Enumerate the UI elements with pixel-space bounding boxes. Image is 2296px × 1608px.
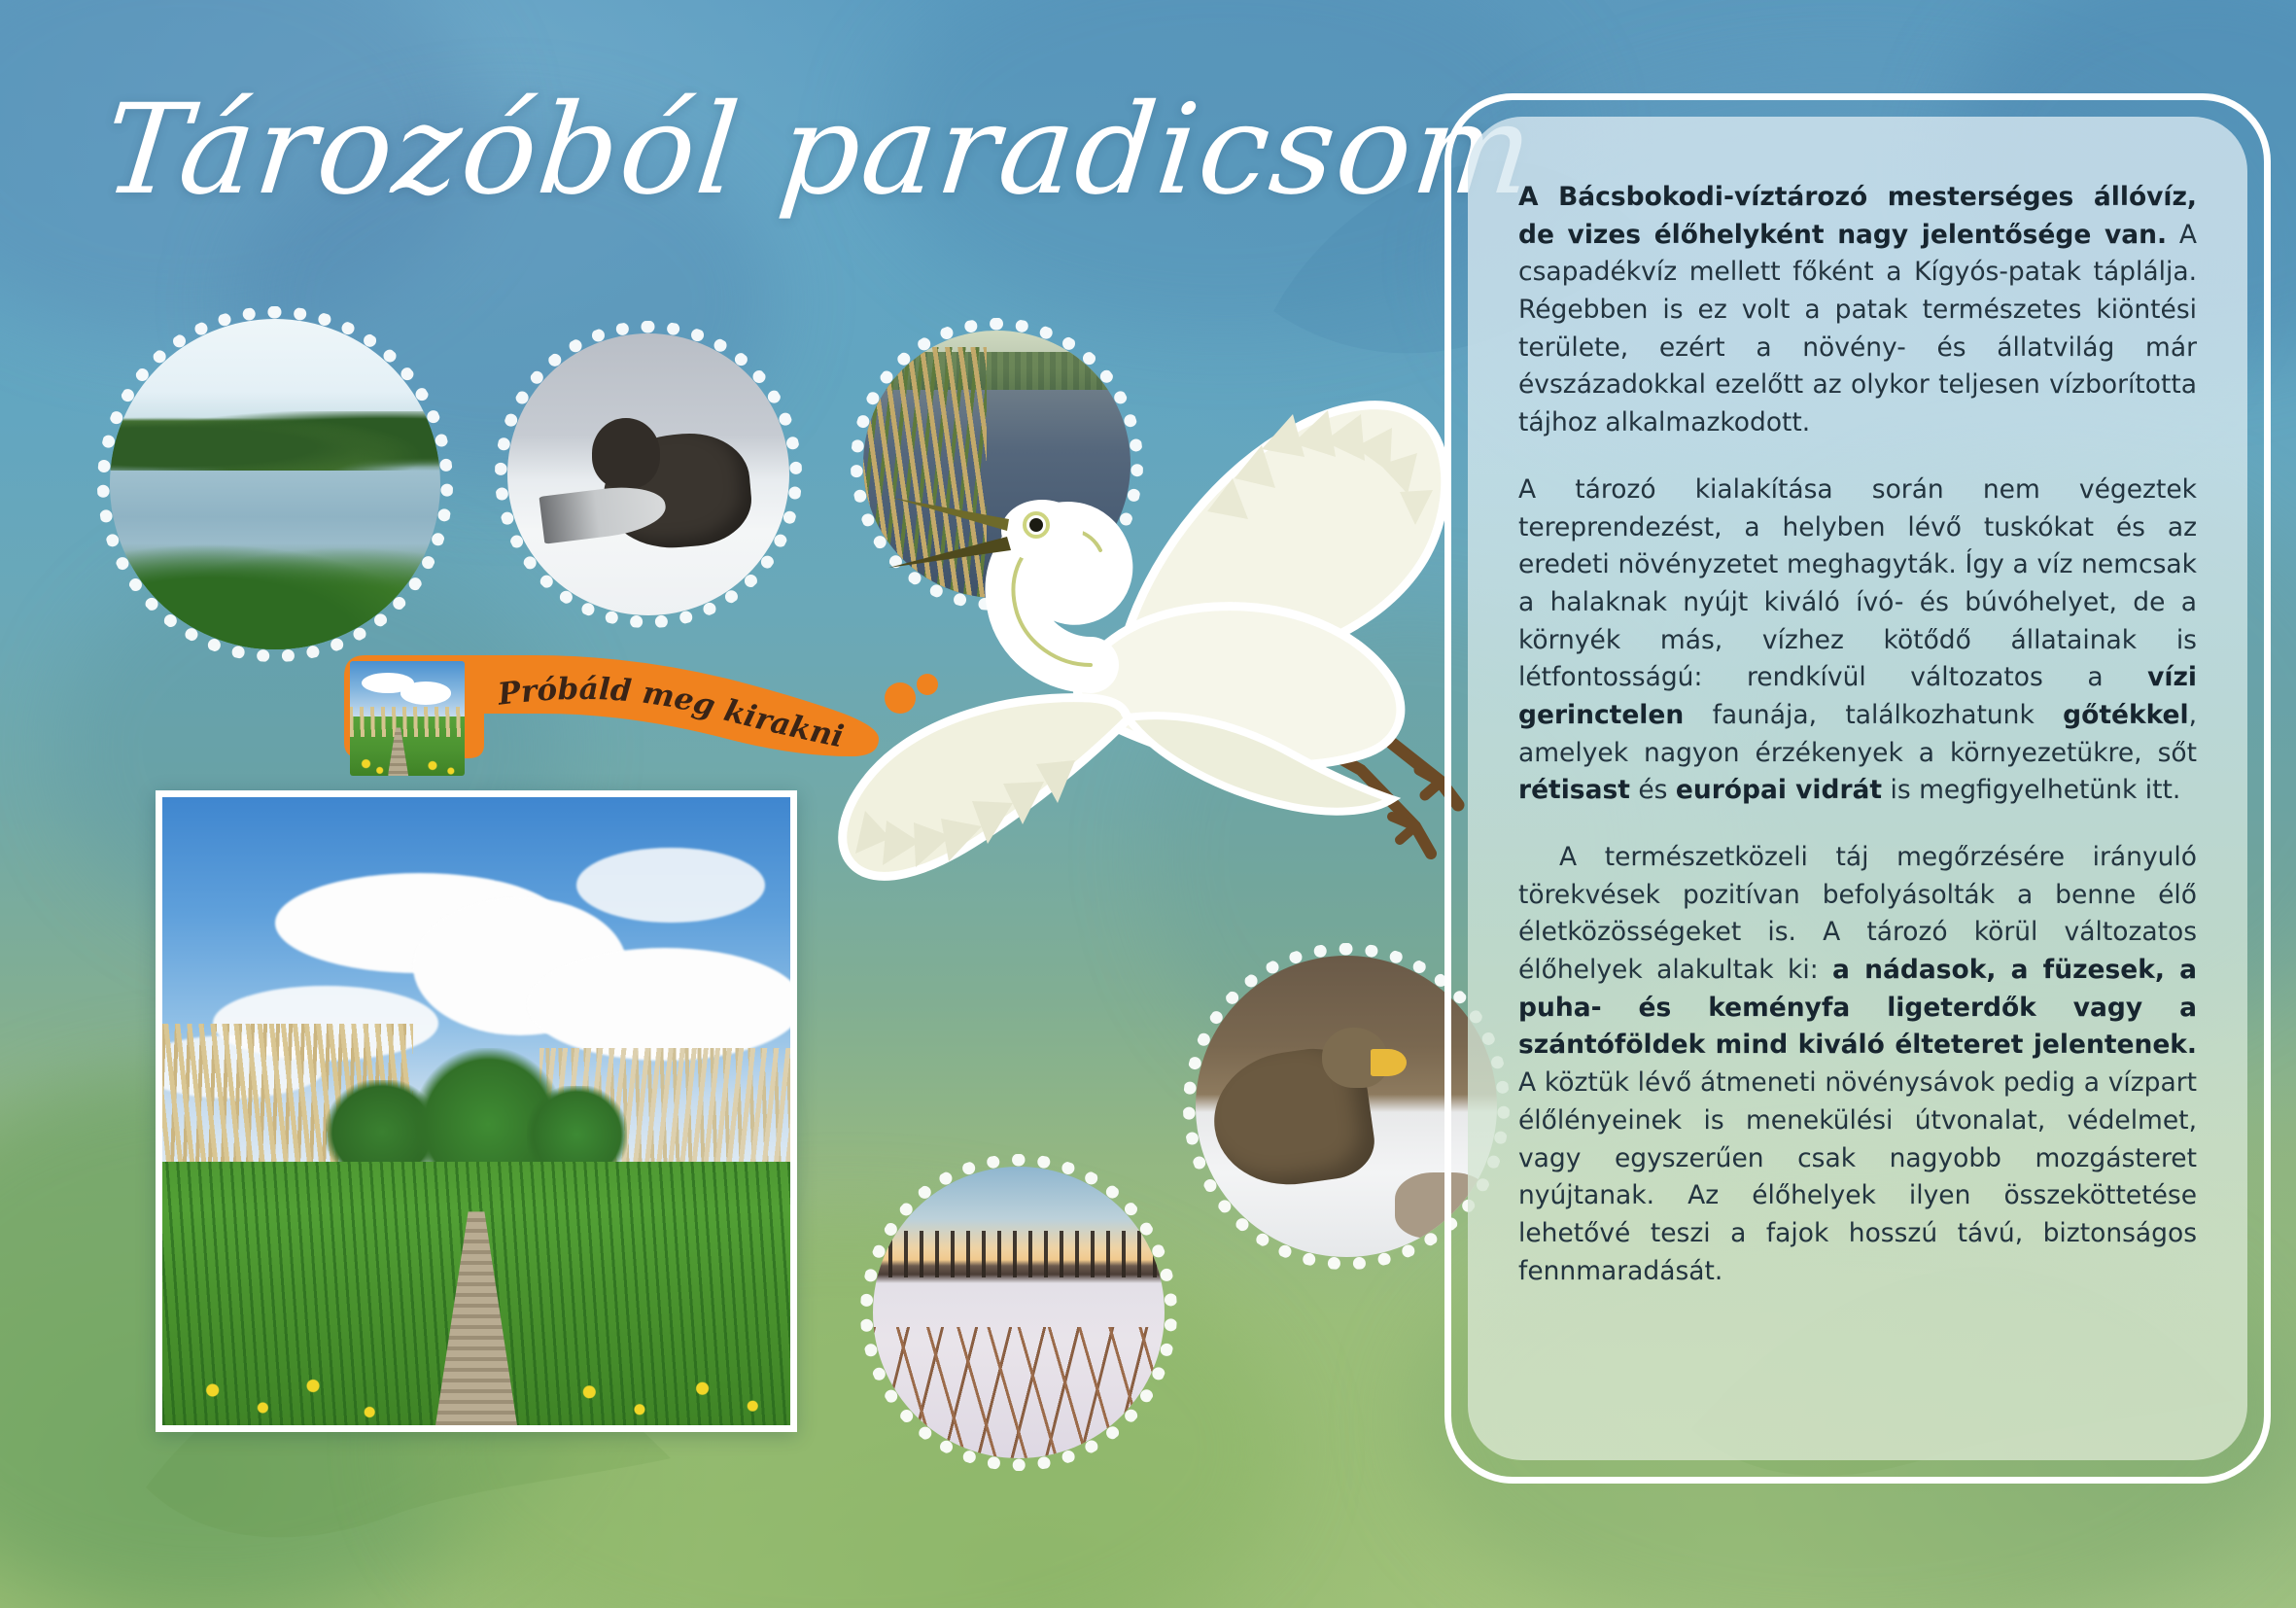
buttercup-flowers <box>162 1338 790 1425</box>
page-title: Tározóból paradicsom <box>98 86 1541 216</box>
winter-photo <box>873 1167 1165 1458</box>
otter-photo <box>507 333 789 615</box>
great-egret-illustration <box>836 389 1516 933</box>
beaded-rim <box>97 306 453 662</box>
heron-eye <box>1029 518 1043 532</box>
cloud <box>576 848 765 924</box>
beaded-rim <box>860 1154 1177 1471</box>
banner-thumbnail <box>350 661 465 776</box>
beaded-rim <box>1183 943 1510 1270</box>
panel-paragraph-3: A természetközeli táj megőrzésére irányu… <box>1518 839 2197 1290</box>
info-panel: A Bácsbokodi-víztározó mesterséges állóv… <box>1468 117 2247 1460</box>
eagle-photo <box>1196 956 1497 1257</box>
pond-photo <box>110 319 440 649</box>
heron-head <box>1001 500 1083 562</box>
heron-lower-wing <box>843 698 1128 877</box>
beaded-rim <box>495 321 802 628</box>
poster-canvas: Tározóból paradicsom <box>0 0 2296 1608</box>
panel-paragraph-1: A Bácsbokodi-víztározó mesterséges állóv… <box>1518 179 2197 442</box>
panel-paragraph-2: A tározó kialakítása során nem végeztek … <box>1518 472 2197 810</box>
cloud <box>527 948 797 1061</box>
boardwalk-photo <box>156 790 797 1432</box>
